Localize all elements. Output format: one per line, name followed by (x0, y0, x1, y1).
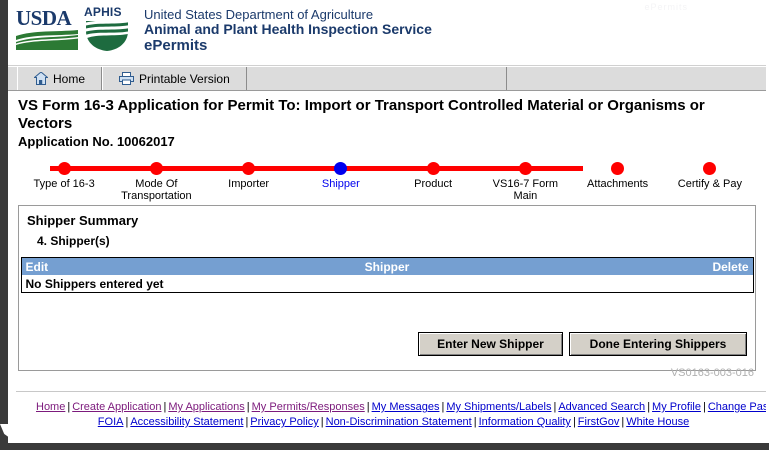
step-dot-icon (334, 162, 347, 175)
footer-separator: | (472, 416, 479, 428)
toolbar-filler (507, 67, 766, 90)
footer-links-primary: Home|Create Application|My Applications|… (16, 400, 769, 415)
epermits-page: ePermits USDA APHIS (0, 0, 769, 450)
step-label: Product (387, 178, 479, 190)
progress-step-vs16-7-form-main[interactable]: VS16-7 Form Main (479, 157, 571, 202)
banner-title-block: United States Department of Agriculture … (144, 7, 432, 53)
toolbar: Home Printable Version (8, 66, 766, 91)
toolbar-empty-cell (247, 67, 507, 90)
progress-step-type-of-16-3[interactable]: Type of 16-3 (18, 157, 110, 202)
footer-link-my-shipments-labels[interactable]: My Shipments/Labels (446, 401, 551, 413)
footer-link-foia[interactable]: FOIA (98, 416, 124, 428)
step-label: Attachments (572, 178, 664, 190)
service-name: Animal and Plant Health Inspection Servi… (144, 22, 432, 37)
usda-landscape-icon (16, 30, 78, 50)
step-label: Shipper (295, 178, 387, 190)
progress-step-certify-pay[interactable]: Certify & Pay (664, 157, 756, 202)
footer-link-firstgov[interactable]: FirstGov (578, 416, 620, 428)
step-dot-icon (150, 162, 163, 175)
step-label: Importer (203, 178, 295, 190)
step-dot-icon (242, 162, 255, 175)
page-content: ePermits USDA APHIS (8, 0, 766, 443)
step-label: Mode Of Transportation (110, 178, 202, 202)
aphis-shield-icon (84, 19, 130, 52)
footer-link-non-discrimination-statement[interactable]: Non-Discrimination Statement (326, 416, 472, 428)
home-button[interactable]: Home (17, 67, 102, 90)
footer-link-create-application[interactable]: Create Application (72, 401, 161, 413)
footer-separator: | (701, 401, 708, 413)
progress-steps: Type of 16-3Mode Of TransportationImport… (8, 157, 766, 203)
step-dot-icon (611, 162, 624, 175)
footer-link-information-quality[interactable]: Information Quality (479, 416, 571, 428)
page-frame-left-rail (0, 0, 8, 424)
step-dot-icon (58, 162, 71, 175)
footer-link-my-profile[interactable]: My Profile (652, 401, 701, 413)
home-icon (34, 72, 48, 85)
app-name: ePermits (144, 38, 432, 53)
empty-message: No Shippers entered yet (21, 275, 753, 293)
step-label: Certify & Pay (664, 178, 756, 190)
document-id: VS0163-003-016 (671, 367, 754, 379)
footer-link-my-applications[interactable]: My Applications (168, 401, 244, 413)
printable-version-button[interactable]: Printable Version (102, 67, 247, 90)
page-frame-bottom-band (8, 443, 769, 450)
column-header-delete[interactable]: Delete (595, 258, 754, 276)
footer-link-my-permits-responses[interactable]: My Permits/Responses (252, 401, 365, 413)
footer-link-change-password[interactable]: Change Password (708, 401, 769, 413)
step-dot-icon (427, 162, 440, 175)
panel-subheading: 4. Shipper(s) (19, 228, 755, 248)
printable-version-label: Printable Version (139, 72, 230, 86)
progress-step-mode-of-transportation[interactable]: Mode Of Transportation (110, 157, 202, 202)
page-title: VS Form 16-3 Application for Permit To: … (18, 97, 756, 133)
footer-link-advanced-search[interactable]: Advanced Search (558, 401, 645, 413)
step-label: VS16-7 Form Main (479, 178, 571, 202)
step-dot-icon (519, 162, 532, 175)
footer-links-secondary: FOIA|Accessibility Statement|Privacy Pol… (16, 415, 769, 430)
agency-name: United States Department of Agriculture (144, 7, 432, 22)
column-header-shipper[interactable]: Shipper (180, 258, 595, 276)
footer-link-my-messages[interactable]: My Messages (372, 401, 440, 413)
home-label: Home (53, 72, 85, 86)
shipper-summary-panel: Shipper Summary 4. Shipper(s) Edit Shipp… (18, 205, 756, 371)
usda-logo: USDA (16, 8, 78, 48)
panel-heading: Shipper Summary (19, 206, 755, 228)
printer-icon (119, 72, 134, 85)
table-header-row: Edit Shipper Delete (21, 258, 753, 276)
step-dot-icon (703, 162, 716, 175)
enter-new-shipper-button[interactable]: Enter New Shipper (418, 332, 563, 356)
aphis-logo: APHIS (84, 6, 136, 52)
footer-link-white-house[interactable]: White House (626, 416, 689, 428)
page-title-block: VS Form 16-3 Application for Permit To: … (8, 91, 766, 151)
aphis-wordmark: APHIS (84, 6, 136, 18)
footer-separator: | (571, 416, 578, 428)
footer-separator: | (245, 401, 252, 413)
footer-link-privacy-policy[interactable]: Privacy Policy (250, 416, 318, 428)
column-header-edit[interactable]: Edit (21, 258, 180, 276)
table-empty-row: No Shippers entered yet (21, 275, 753, 293)
progress-step-importer[interactable]: Importer (203, 157, 295, 202)
footer-link-accessibility-statement[interactable]: Accessibility Statement (130, 416, 243, 428)
site-footer: Home|Create Application|My Applications|… (16, 391, 769, 430)
usda-wordmark: USDA (16, 8, 78, 29)
footer-separator: | (319, 416, 326, 428)
site-banner: ePermits USDA APHIS (8, 0, 766, 66)
panel-button-row: Enter New Shipper Done Entering Shippers (418, 332, 747, 356)
done-entering-shippers-button[interactable]: Done Entering Shippers (569, 332, 747, 356)
banner-watermark: ePermits (644, 2, 688, 12)
footer-link-home[interactable]: Home (36, 401, 65, 413)
progress-step-product[interactable]: Product (387, 157, 479, 202)
step-label: Type of 16-3 (18, 178, 110, 190)
progress-step-attachments[interactable]: Attachments (572, 157, 664, 202)
shipper-table: Edit Shipper Delete No Shippers entered … (21, 257, 754, 293)
footer-separator: | (365, 401, 372, 413)
application-number: Application No. 10062017 (18, 134, 756, 149)
progress-step-shipper[interactable]: Shipper (295, 157, 387, 202)
